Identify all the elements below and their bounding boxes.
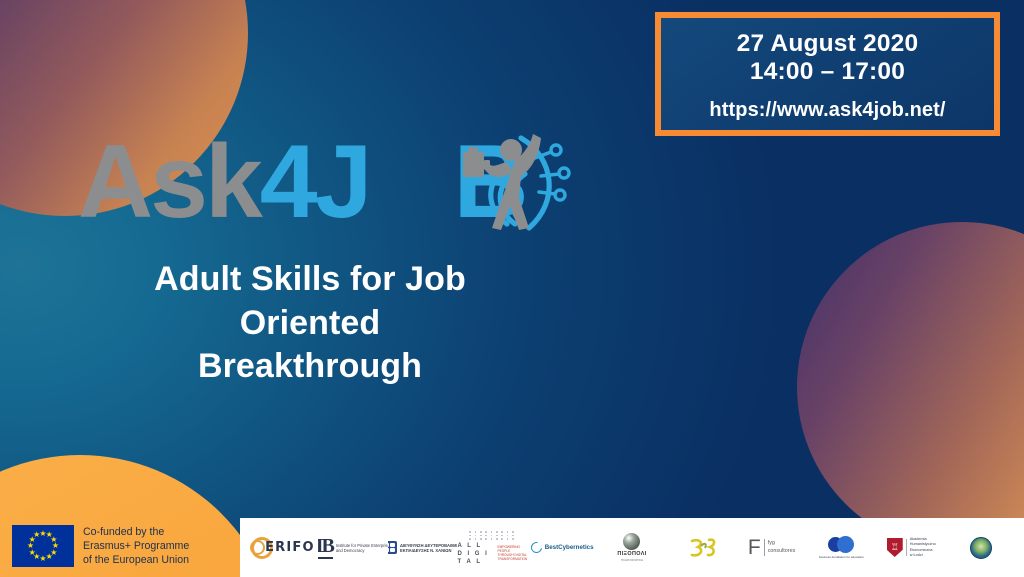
partner-logo-dyde: ΔΙΕΥΘΥΝΣΗ ΔΕΥΤΕΡΟΒΑΘΜΙΑΣ ΕΚΠΑΙΔΕΥΣΗΣ Ν. … bbox=[388, 518, 458, 577]
ask4job-wordmark: Ask4JB bbox=[78, 128, 526, 236]
erifo-ring-inner-icon bbox=[250, 540, 265, 555]
erifo-name: ERIFO bbox=[265, 540, 315, 555]
event-url[interactable]: https://www.ask4job.net/ bbox=[709, 99, 945, 122]
iped-name: Institute for Private Enterprise bbox=[336, 543, 388, 548]
fyg-monogram-icon: F bbox=[748, 537, 761, 558]
ahe-divider bbox=[906, 539, 907, 556]
ahe-eagle-crest-icon: ♖ bbox=[887, 538, 903, 557]
subtitle-line-2: Oriented bbox=[50, 302, 570, 346]
event-date: 27 August 2020 bbox=[737, 30, 919, 58]
subtitle-line-3: Breakthrough bbox=[50, 345, 570, 389]
partner-logo-iped: IB Institute for Private Enterprise and … bbox=[318, 518, 388, 577]
erasmus-funding-block: ★★★★★★★★★★★★ Co-funded by the Erasmus+ P… bbox=[12, 525, 189, 568]
dyde-name: ΔΙΕΥΘΥΝΣΗ ΔΕΥΤΕΡΟΒΑΘΜΙΑΣ bbox=[400, 543, 457, 548]
partner-logo-ahe-lodz: ♖ Akademia Humanistyczno Ekonomiczna w Ł… bbox=[876, 518, 946, 577]
pixopoli-name: ΠΙΞΟΠΟΛΙ bbox=[617, 551, 646, 557]
fyg-subtitle: consultores bbox=[768, 548, 796, 555]
erasmus-line-1: Co-funded by the bbox=[83, 525, 189, 539]
partner-logo-erifo: ERIFO bbox=[248, 518, 318, 577]
all-digital-dot-grid-icon bbox=[469, 529, 515, 542]
all-digital-name-2: D I G I T A L bbox=[457, 550, 494, 566]
all-digital-tagline: EMPOWERING PEOPLE THROUGH DIGITAL TRANSF… bbox=[498, 546, 528, 561]
partner-logo-fyg-consultores: F fyg consultores bbox=[737, 518, 807, 577]
bestcybernetics-swirl-icon bbox=[529, 540, 544, 555]
decorative-circle-right bbox=[797, 222, 1024, 552]
poster-subtitle: Adult Skills for Job Oriented Breakthrou… bbox=[50, 258, 570, 389]
dyde-crest-icon bbox=[388, 541, 397, 554]
iped-name-2: and Democracy bbox=[336, 548, 388, 553]
pixopoli-subtitle: ΠΛΗΡΟΦΟΡΙΚΗ bbox=[621, 558, 643, 562]
partner-logo-pixopoli: ΠΙΞΟΠΟΛΙ ΠΛΗΡΟΦΟΡΙΚΗ bbox=[597, 518, 667, 577]
subtitle-line-1: Adult Skills for Job bbox=[50, 258, 570, 302]
business-foundation-circle-2-icon bbox=[837, 536, 854, 553]
wordmark-ask: Ask bbox=[78, 124, 260, 240]
partner-logo-bee bbox=[667, 518, 737, 577]
ahe-name-2: Humanistyczno Ekonomiczna w Łodzi bbox=[910, 542, 936, 557]
fyg-name: fyg bbox=[768, 540, 796, 547]
event-info-box: 27 August 2020 14:00 – 17:00 https://www… bbox=[655, 12, 1000, 136]
bestcybernetics-name: BestCybernetics bbox=[545, 544, 594, 551]
dyde-name-2: ΕΚΠΑΙΔΕΥΣΗΣ Ν. ΧΑΝΙΩΝ bbox=[400, 548, 457, 553]
business-foundation-name: business foundation for education bbox=[819, 555, 864, 559]
circular-emblem-icon bbox=[970, 537, 992, 559]
eu-star-icon: ★ bbox=[33, 531, 41, 539]
partner-logo-all-digital: A L L D I G I T A L EMPOWERING PEOPLE TH… bbox=[457, 518, 527, 577]
bee-figure-icon bbox=[687, 535, 717, 561]
all-digital-name: A L L bbox=[457, 542, 494, 550]
wordmark-4j: 4J bbox=[260, 124, 370, 240]
partner-logo-business-foundation: business foundation for education bbox=[807, 518, 877, 577]
iped-monogram-icon: IB bbox=[318, 536, 333, 559]
event-time: 14:00 – 17:00 bbox=[750, 58, 905, 86]
fyg-divider bbox=[764, 539, 765, 556]
erasmus-line-3: of the European Union bbox=[83, 553, 189, 567]
erasmus-line-2: Erasmus+ Programme bbox=[83, 539, 189, 553]
person-with-briefcase-icon bbox=[463, 124, 581, 236]
partner-logo-bar: ERIFO IB Institute for Private Enterpris… bbox=[240, 518, 1024, 577]
partner-logo-emblem bbox=[946, 518, 1016, 577]
ask4job-logo: Ask4JB bbox=[78, 128, 578, 236]
erasmus-funding-text: Co-funded by the Erasmus+ Programme of t… bbox=[83, 525, 189, 568]
european-union-flag-icon: ★★★★★★★★★★★★ bbox=[12, 525, 74, 567]
partner-logo-bestcybernetics: BestCybernetics bbox=[527, 518, 597, 577]
pixopoli-globe-icon bbox=[623, 533, 640, 550]
poster-canvas: 27 August 2020 14:00 – 17:00 https://www… bbox=[0, 0, 1024, 577]
